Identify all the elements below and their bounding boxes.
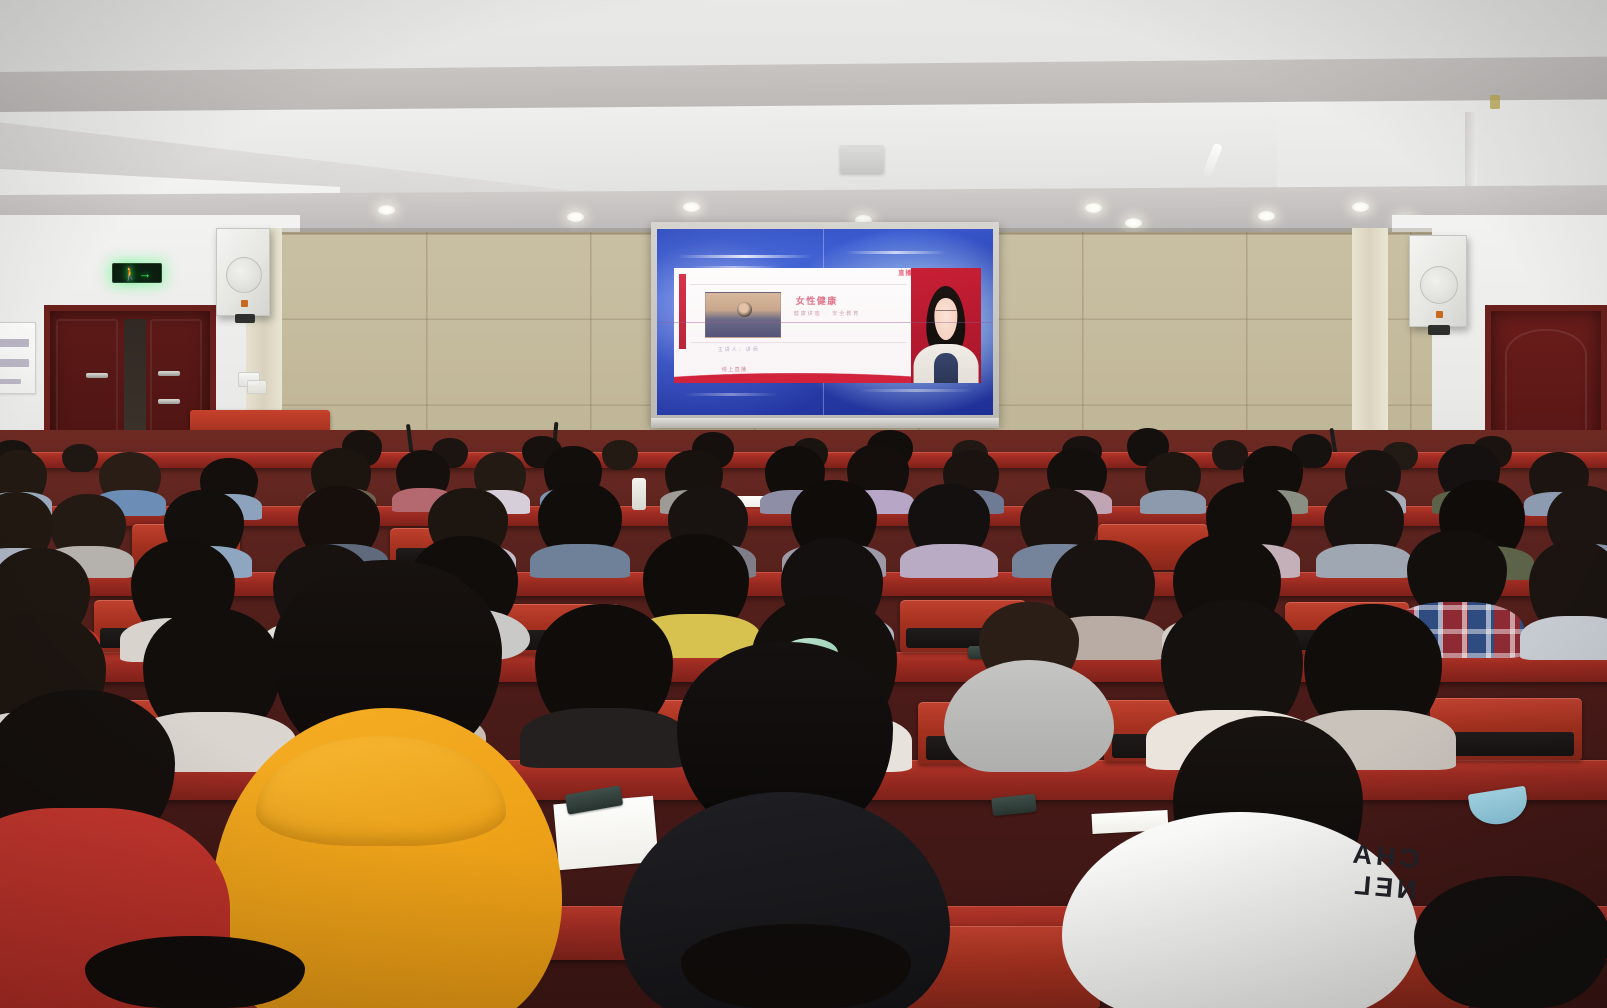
- slide-accent-bar: [679, 274, 686, 349]
- screen-surface: 女性健康 健康讲座 · 安全教育 主讲人：讲师 线上直播 直播: [657, 229, 993, 415]
- recessed-downlight: [683, 202, 700, 212]
- student: [1140, 452, 1206, 510]
- recessed-downlight: [1125, 218, 1142, 228]
- wall-speaker-left: [216, 228, 270, 316]
- garment-text: CHA NEL: [1272, 832, 1421, 906]
- recessed-downlight: [567, 212, 584, 222]
- glasses-icon: [935, 310, 956, 318]
- projection-screen[interactable]: 女性健康 健康讲座 · 安全教育 主讲人：讲师 线上直播 直播: [651, 222, 999, 425]
- student: [1520, 540, 1607, 658]
- student-white-hoodie: CHA NEL: [1062, 716, 1418, 1008]
- student: [80, 936, 310, 1008]
- water-bottle: [632, 478, 646, 510]
- speaker-bracket-left: [235, 314, 255, 323]
- slide-panel: 女性健康 健康讲座 · 安全教育 主讲人：讲师 线上直播: [674, 268, 918, 383]
- recessed-downlight: [1085, 203, 1102, 213]
- ceiling-projector-mount: [840, 145, 884, 173]
- slide-title: 女性健康: [796, 294, 838, 307]
- recessed-downlight: [378, 205, 395, 215]
- slide-subtitle: 健康讲座 · 安全教育: [794, 310, 860, 317]
- ceiling-stain-mark: [1490, 95, 1500, 109]
- speaker-bracket-right: [1428, 325, 1450, 335]
- wall-outlet-secondary[interactable]: [247, 380, 267, 394]
- recessed-downlight: [1258, 211, 1275, 221]
- emergency-exit-sign: 🚶→: [112, 263, 162, 283]
- slide-speaker-photo: [705, 292, 781, 338]
- live-video-feed: [911, 268, 982, 383]
- lecture-hall-photo: 🚶→: [0, 0, 1607, 1008]
- seat-cushion: [1438, 732, 1574, 756]
- slide-red-wave: [674, 345, 918, 383]
- running-man-icon: 🚶→: [122, 267, 151, 280]
- screen-frame-bottom: [651, 418, 999, 428]
- student: [900, 484, 998, 574]
- framed-notice-upper: [0, 322, 36, 394]
- wall-speaker-right: [1409, 235, 1467, 327]
- student: [1412, 876, 1607, 1008]
- recessed-downlight: [1352, 202, 1369, 212]
- presenter-shirt: [934, 353, 958, 383]
- student: [600, 440, 640, 470]
- student: [676, 924, 916, 1008]
